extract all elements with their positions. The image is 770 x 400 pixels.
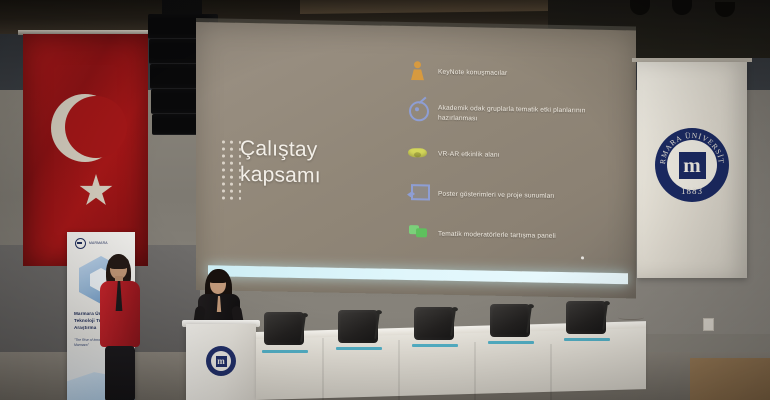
target-icon [408,100,428,120]
conference-photo-scene: Çalıştay kapsamı KeyNote konuşmacılar Ak… [0,0,770,400]
seal-monogram: m [679,152,706,179]
wall-socket [703,318,714,331]
vr-goggles-icon [408,142,428,162]
projection-screen: Çalıştay kapsamı KeyNote konuşmacılar Ak… [196,22,636,298]
slide-title-line1: Çalıştay [240,136,400,165]
seal-inner: m [667,140,717,190]
slide-title: Çalıştay kapsamı [240,136,400,191]
desk-accent-stripe [564,338,610,341]
desk-seam [322,338,324,400]
list-item: Akademik odak gruplarla tematik etki pla… [408,102,624,126]
desk-seam [550,344,552,400]
chair [414,307,454,340]
slide-pointer-dot [581,256,584,259]
bullet-text: Poster gösterimleri ve proje sunumları [438,185,555,202]
podium-seal-monogram: m [216,356,227,367]
hair-front [108,256,129,269]
bullet-text: KeyNote konuşmacılar [438,63,507,79]
star-icon [79,174,113,208]
podium: m [186,324,256,400]
crescent-cutout [65,96,127,158]
podium-university-seal: m [206,346,236,376]
wood-floor-strip [690,358,770,400]
speaker-podium-icon [408,60,428,80]
desk-accent-stripe [336,347,382,350]
bullet-text: VR-AR etkinlik alanı [438,145,500,161]
desk-accent-stripe [262,350,308,353]
chair [264,312,304,345]
podium-seal-inner: m [211,351,231,371]
desk-seam [474,342,476,400]
speech-bubbles-icon [408,222,428,242]
hair-front [208,271,228,283]
chair [490,304,530,337]
marmara-logo-icon [75,238,86,249]
woman-in-red-blazer [96,258,144,400]
rollup-logo: MARMARA [75,238,108,249]
panel-desk-area [256,318,646,400]
chair [338,310,378,343]
list-item: VR-AR etkinlik alanı [408,144,624,166]
university-seal: MARMARA ÜNİVERSİTESİ m 1883 [655,128,729,202]
list-item: Poster gösterimleri ve proje sunumları [408,184,624,206]
list-item: Tematik moderatörlerle tartışma paneli [408,224,624,246]
desk-accent-stripe [412,344,458,347]
slide-accent-bar [208,265,628,284]
marmara-university-banner: MARMARA ÜNİVERSİTESİ m 1883 [637,62,747,278]
slide-bullet-list: KeyNote konuşmacılar Akademik odak grupl… [408,62,624,268]
list-item: KeyNote konuşmacılar [408,62,624,84]
chair [566,301,606,334]
rollup-logo-label: MARMARA [89,241,108,245]
desk-seam [398,340,400,400]
hanging-cable [618,313,644,320]
seal-year: 1883 [655,186,729,196]
bullet-text: Tematik moderatörlerle tartışma paneli [438,225,556,242]
trousers [105,346,135,400]
desk-accent-stripe [488,341,534,344]
presentation-screen-icon [408,182,428,202]
slide-title-line2: kapsamı [240,162,400,191]
slide: Çalıştay kapsamı KeyNote konuşmacılar Ak… [196,22,636,298]
bullet-text: Akademik odak gruplarla tematik etki pla… [438,103,624,127]
